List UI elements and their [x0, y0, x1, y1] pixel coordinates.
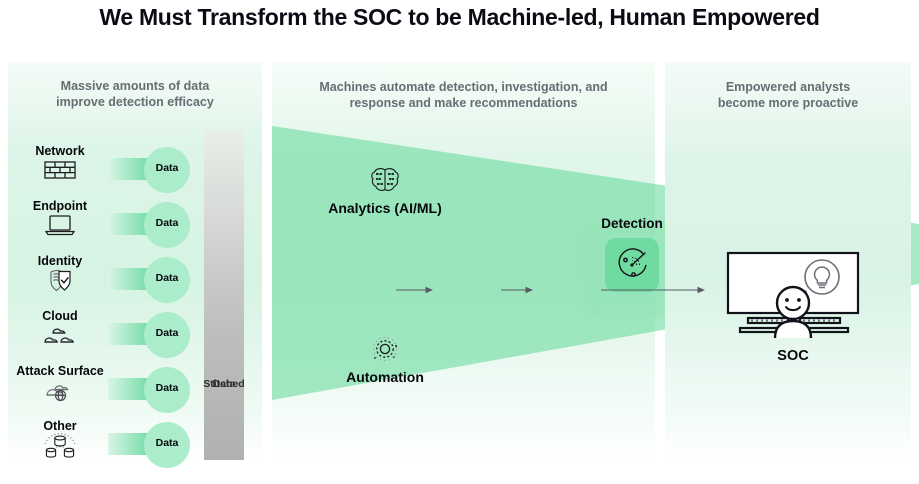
data-bubble-label: Data	[144, 272, 190, 284]
source-row-cloud[interactable]: Cloud Data	[8, 309, 262, 363]
page-title: We Must Transform the SOC to be Machine-…	[0, 4, 919, 31]
automation-block[interactable]: Automation	[300, 334, 470, 385]
source-label: Other	[8, 419, 112, 433]
clouds-icon	[8, 323, 112, 347]
analyst-monitor-lightbulb-icon	[713, 248, 873, 348]
brain-ai-icon	[300, 166, 470, 196]
right-heading-line-2: become more proactive	[665, 95, 911, 111]
source-row-network[interactable]: Network Data	[8, 144, 262, 198]
left-column-heading: Massive amounts of data improve detectio…	[8, 78, 262, 110]
cloud-globe-icon	[8, 378, 112, 404]
source-label: Cloud	[8, 309, 112, 323]
data-bubble-label: Data	[144, 217, 190, 229]
data-bubble: Data	[144, 257, 190, 303]
source-row-identity[interactable]: Identity Data	[8, 254, 262, 308]
stage-label: Detection	[601, 216, 663, 231]
column-empowered-analysts: Empowered analysts become more proactive	[665, 62, 911, 464]
soc-label: SOC	[713, 348, 873, 364]
middle-heading-line-1: Machines automate detection, investigati…	[272, 79, 655, 95]
left-heading-line-1: Massive amounts of data	[8, 78, 262, 94]
analytics-label: Analytics (AI/ML)	[300, 200, 470, 216]
source-row-endpoint[interactable]: Endpoint Data	[8, 199, 262, 253]
radar-gauge-icon	[605, 238, 659, 292]
soc-illustration[interactable]: SOC	[713, 248, 873, 364]
middle-heading-line-2: response and make recommendations	[272, 95, 655, 111]
data-bubble: Data	[144, 422, 190, 468]
data-bubble: Data	[144, 202, 190, 248]
firewall-brick-icon	[8, 158, 112, 182]
source-label: Network	[8, 144, 112, 158]
column-machine-automation: Machines automate detection, investigati…	[272, 62, 655, 464]
middle-column-heading: Machines automate detection, investigati…	[272, 79, 655, 111]
right-column-heading: Empowered analysts become more proactive	[665, 79, 911, 111]
right-heading-line-1: Empowered analysts	[665, 79, 911, 95]
source-label: Identity	[8, 254, 112, 268]
source-row-other[interactable]: Other Data	[8, 419, 262, 473]
gear-dotted-icon	[300, 334, 470, 366]
stage-detection[interactable]: Detection	[605, 238, 659, 292]
data-bubble: Data	[144, 312, 190, 358]
fingerprint-shield-icon	[8, 268, 112, 294]
data-bubble-label: Data	[144, 162, 190, 174]
data-bubble-label: Data	[144, 382, 190, 394]
laptop-icon	[8, 213, 112, 237]
data-bubble-label: Data	[144, 327, 190, 339]
source-label: Endpoint	[8, 199, 112, 213]
source-label: Attack Surface	[8, 364, 112, 378]
source-row-attack-surface[interactable]: Attack Surface Data	[8, 364, 262, 418]
database-stack-icon	[8, 433, 112, 461]
left-heading-line-2: improve detection efficacy	[8, 94, 262, 110]
data-bubble-label: Data	[144, 437, 190, 449]
column-data-sources: Massive amounts of data improve detectio…	[8, 62, 262, 464]
data-bubble: Data	[144, 147, 190, 193]
data-bubble: Data	[144, 367, 190, 413]
analytics-block[interactable]: Analytics (AI/ML)	[300, 166, 470, 216]
automation-label: Automation	[300, 369, 470, 385]
